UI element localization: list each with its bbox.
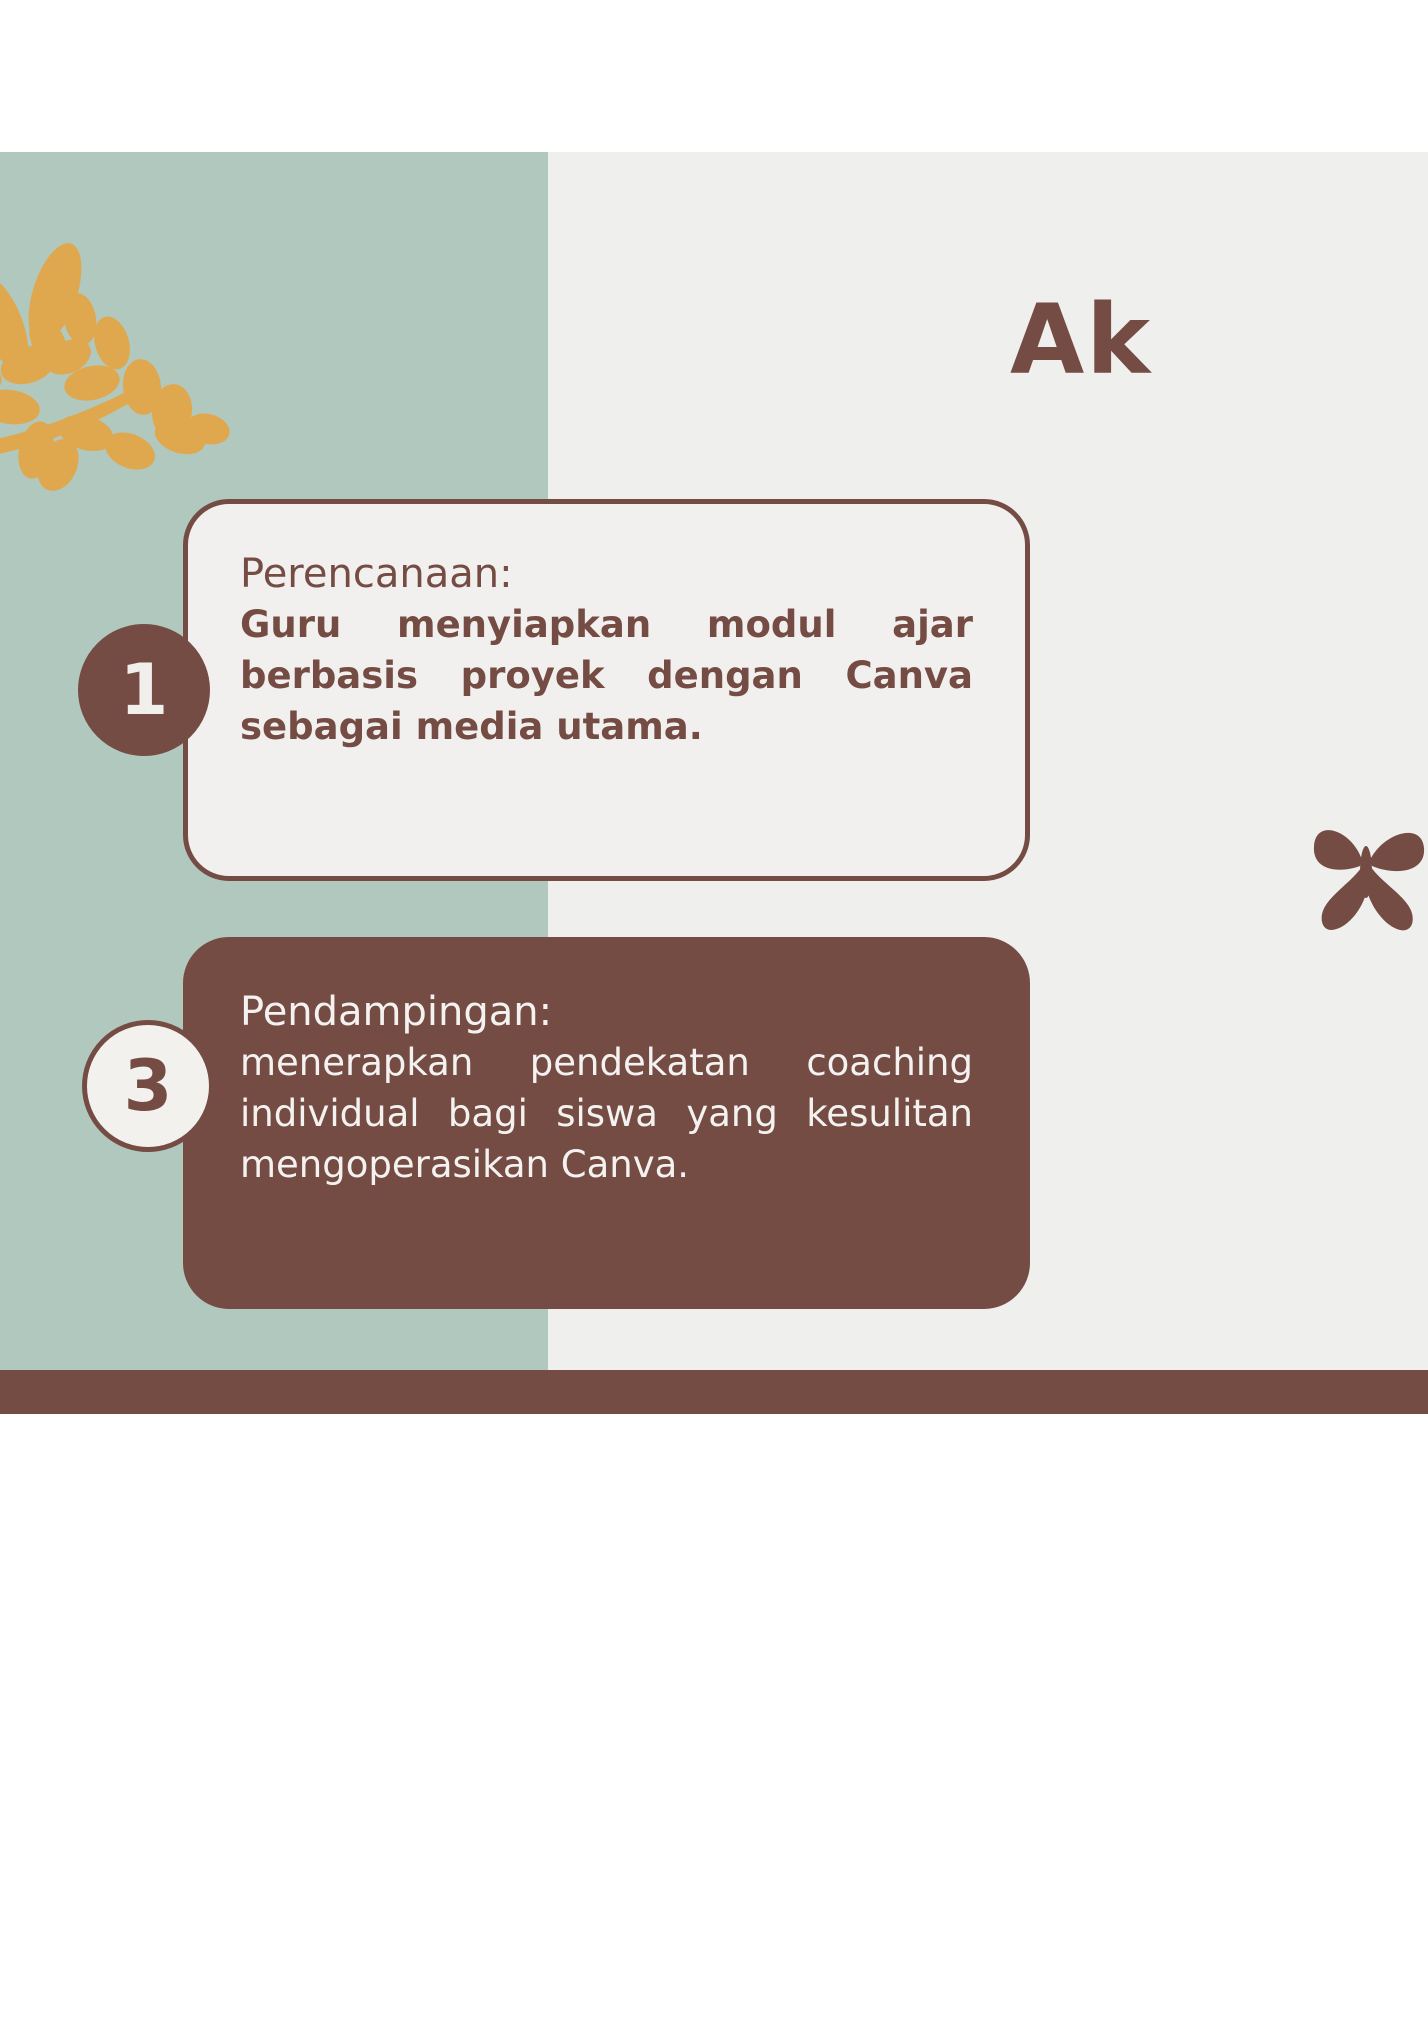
- step-card-1-title: Perencanaan:: [240, 552, 973, 597]
- bottom-accent-bar: [0, 1370, 1428, 1414]
- step-badge-3: 3: [82, 1020, 214, 1152]
- slide-canvas: Ak Perencanaan: Guru menyiapkan modul aj…: [0, 0, 1428, 2018]
- step-card-3-body: menerapkan pendekatan coaching individua…: [240, 1037, 973, 1190]
- step-card-1-body: Guru menyiapkan modul ajar berbasis proy…: [240, 599, 973, 752]
- step-card-1[interactable]: Perencanaan: Guru menyiapkan modul ajar …: [183, 499, 1030, 881]
- step-badge-1: 1: [78, 624, 210, 756]
- step-card-1-content: Perencanaan: Guru menyiapkan modul ajar …: [188, 504, 1025, 752]
- step-card-3-content: Pendampingan: menerapkan pendekatan coac…: [188, 942, 1025, 1190]
- page-title: Ak: [1010, 288, 1152, 394]
- bottom-margin: [0, 1414, 1428, 2018]
- step-card-3-title: Pendampingan:: [240, 990, 973, 1035]
- step-card-3[interactable]: Pendampingan: menerapkan pendekatan coac…: [183, 937, 1030, 1309]
- top-margin: [0, 0, 1428, 152]
